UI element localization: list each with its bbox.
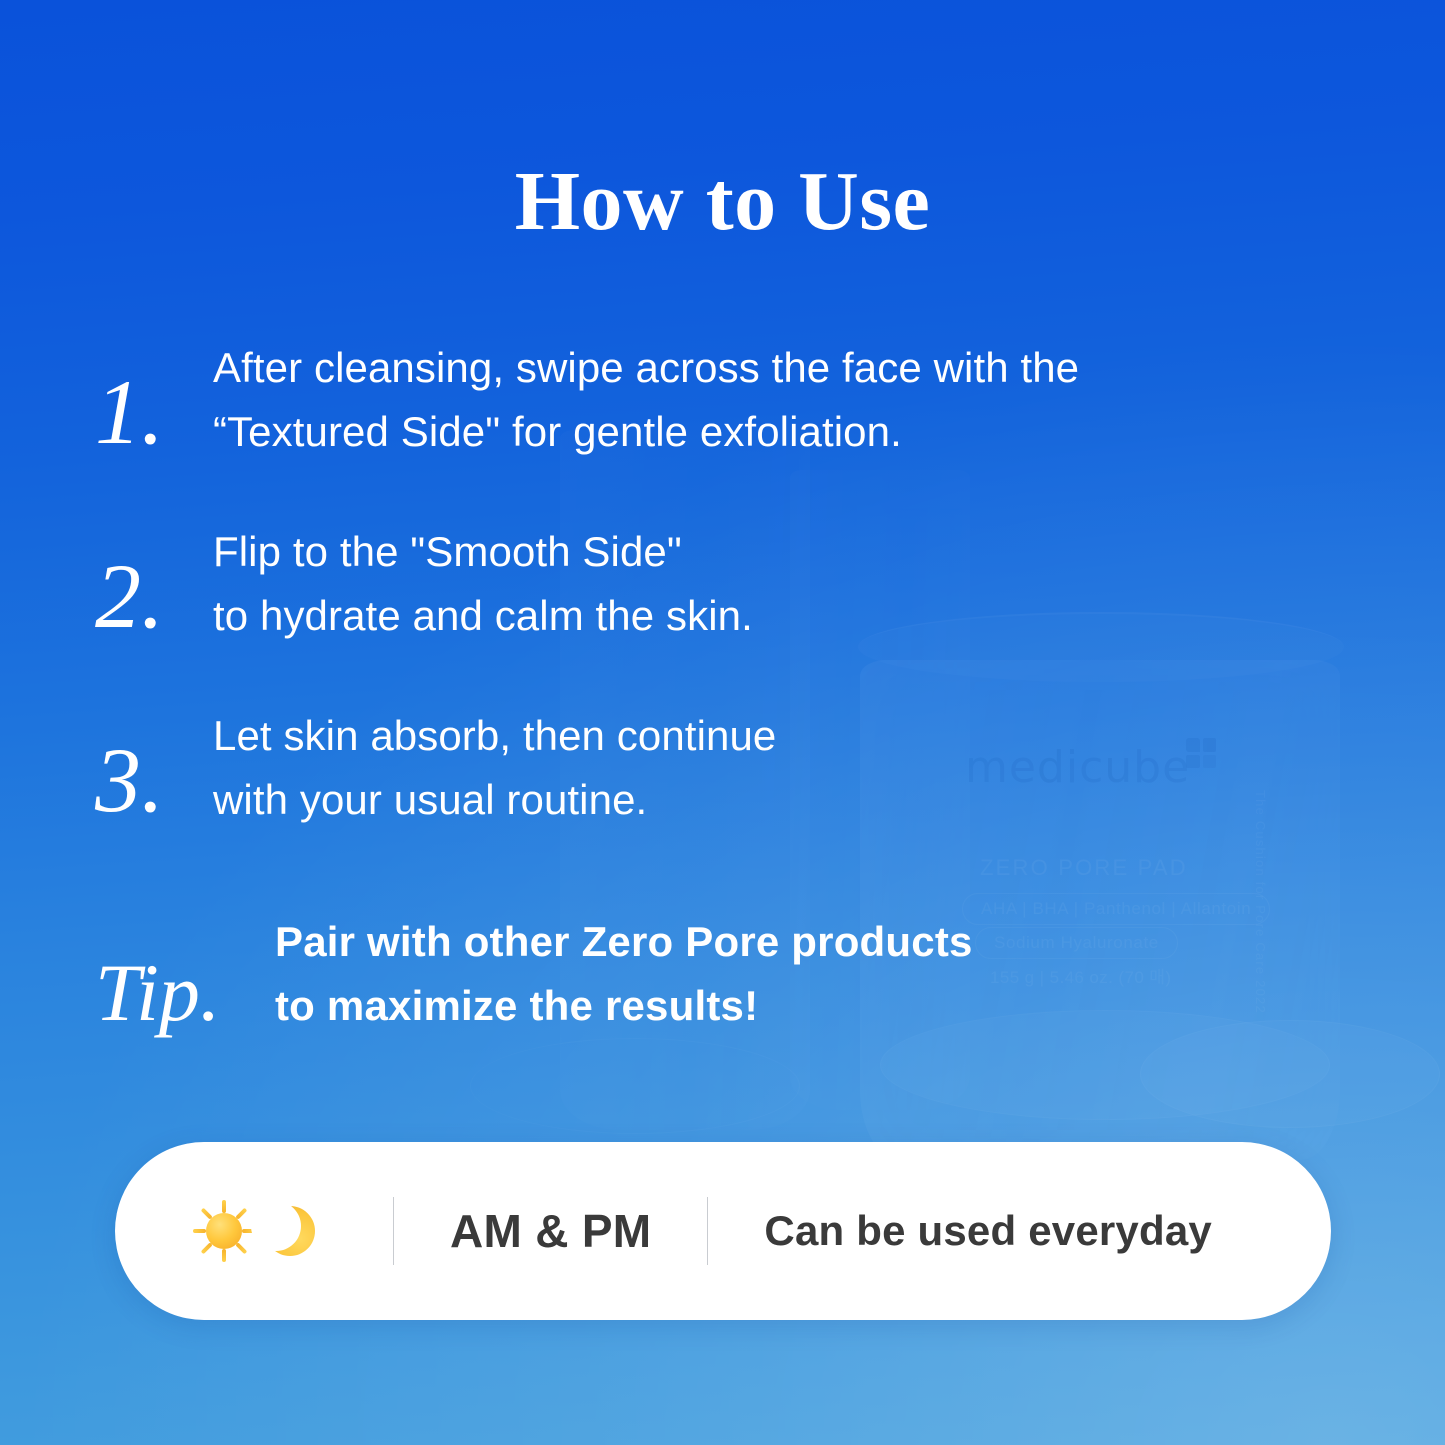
step-text-1-line-1: After cleansing, swipe across the face w…: [213, 344, 1079, 391]
step-text-2-line-2: to hydrate and calm the skin.: [213, 592, 753, 639]
step-text-3-line-2: with your usual routine.: [213, 776, 647, 823]
step-marker-3: 3.: [95, 734, 213, 838]
step-text-1: After cleansing, swipe across the face w…: [213, 336, 1275, 470]
usage-time-of-day: AM & PM: [394, 1204, 707, 1258]
tip-text-line-2: to maximize the results!: [275, 982, 758, 1029]
promo-card: medicube ZERO PORE PAD AHA | BHA | Panth…: [0, 0, 1445, 1445]
usage-info-bar: AM & PM Can be used everyday: [115, 1142, 1331, 1320]
moon-icon: [261, 1202, 319, 1260]
step-text-3: Let skin absorb, then continue with your…: [213, 704, 1275, 838]
step-text-1-line-2: “Textured Side" for gentle exfoliation.: [213, 408, 902, 455]
tip-text-line-1: Pair with other Zero Pore products: [275, 918, 973, 965]
tip-marker: Tip.: [95, 952, 275, 1044]
step-marker-1: 1.: [95, 366, 213, 470]
sun-icon: [193, 1200, 255, 1262]
tip-text: Pair with other Zero Pore products to ma…: [275, 910, 1275, 1044]
step-item-1: 1. After cleansing, swipe across the fac…: [95, 320, 1275, 470]
steps-list: 1. After cleansing, swipe across the fac…: [95, 320, 1275, 1044]
tip-item: Tip. Pair with other Zero Pore products …: [95, 894, 1275, 1044]
page-title: How to Use: [0, 160, 1445, 244]
step-marker-2: 2.: [95, 550, 213, 654]
step-item-2: 2. Flip to the "Smooth Side" to hydrate …: [95, 504, 1275, 654]
usage-icon-group: [193, 1200, 393, 1262]
step-item-3: 3. Let skin absorb, then continue with y…: [95, 688, 1275, 838]
usage-frequency: Can be used everyday: [708, 1207, 1212, 1255]
step-text-2: Flip to the "Smooth Side" to hydrate and…: [213, 520, 1275, 654]
step-text-2-line-1: Flip to the "Smooth Side": [213, 528, 682, 575]
step-text-3-line-1: Let skin absorb, then continue: [213, 712, 776, 759]
